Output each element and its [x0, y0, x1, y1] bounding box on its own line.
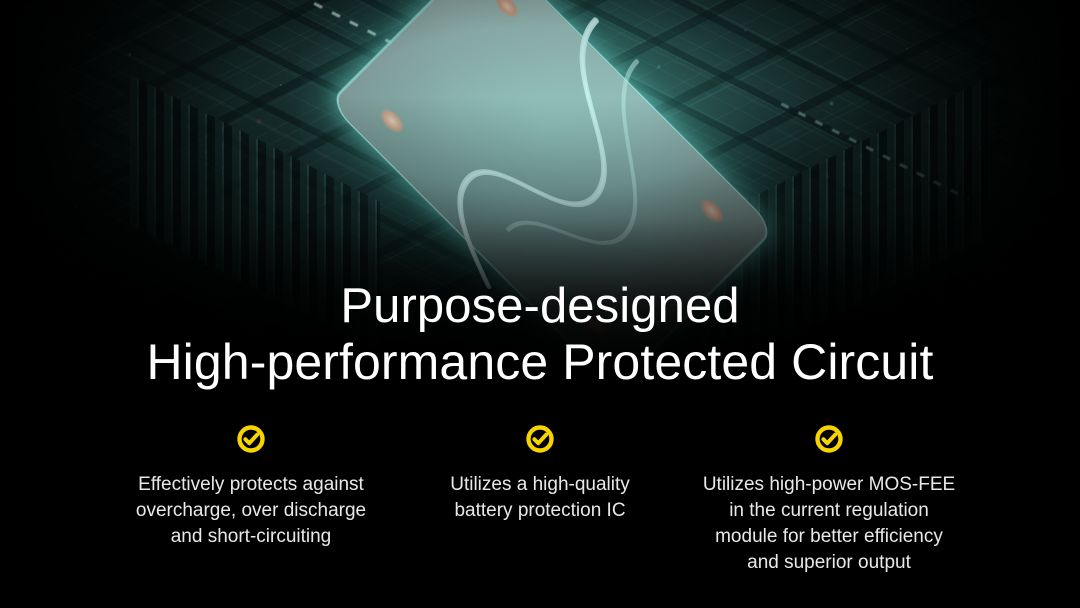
feature-text: Utilizes high-power MOS-FEE in the curre…: [703, 472, 955, 576]
promo-banner: Purpose-designed High-performance Protec…: [0, 0, 1080, 608]
headline-line-1: Purpose-designed: [0, 278, 1080, 334]
headline-line-2: High-performance Protected Circuit: [0, 334, 1080, 390]
headline: Purpose-designed High-performance Protec…: [0, 278, 1080, 390]
feature-item: Effectively protects against overcharge,…: [96, 424, 406, 550]
feature-item: Utilizes a high-quality battery protecti…: [406, 424, 674, 524]
feature-text: Effectively protects against overcharge,…: [136, 472, 366, 550]
check-circle-icon: [525, 424, 555, 454]
feature-text: Utilizes a high-quality battery protecti…: [450, 472, 630, 524]
feature-list: Effectively protects against overcharge,…: [56, 424, 1024, 576]
check-circle-icon: [814, 424, 844, 454]
check-circle-icon: [236, 424, 266, 454]
feature-item: Utilizes high-power MOS-FEE in the curre…: [674, 424, 984, 576]
